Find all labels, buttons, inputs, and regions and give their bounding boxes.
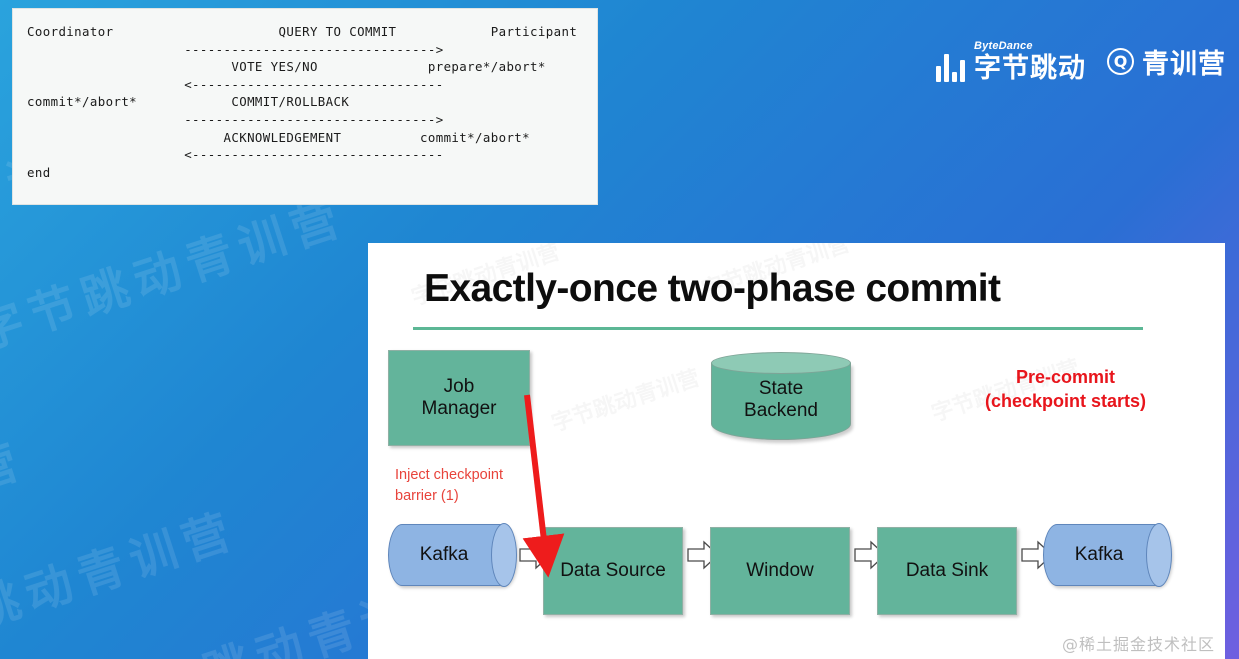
kafka-sink-label: Kafka: [1043, 524, 1171, 586]
window-label: Window: [746, 560, 814, 582]
job-manager-label-line1: Job: [444, 376, 475, 397]
presentation-slide: 字节跳动青训营 字节跳动青训营 字节跳动青训营 字节跳动青训营 Exactly-…: [368, 243, 1225, 659]
annotation-inject-checkpoint-barrier: Inject checkpoint barrier (1): [395, 465, 503, 506]
pre-commit-line1: Pre-commit: [985, 366, 1146, 390]
two-phase-commit-ascii-panel: Coordinator QUERY TO COMMIT Participant …: [12, 8, 598, 205]
state-backend-label-line2: Backend: [744, 400, 818, 422]
slide-screenshot: 字节跳动青训营 字节跳动青训营 字节跳动青训营 字节跳动青训营 字节跳动青训营 …: [0, 0, 1239, 659]
q-circle-icon: Q: [1107, 48, 1134, 75]
inject-barrier-line2: barrier (1): [395, 486, 503, 507]
ascii-sequence-text: Coordinator QUERY TO COMMIT Participant …: [13, 9, 597, 181]
node-kafka-source[interactable]: Kafka: [388, 524, 516, 586]
inject-barrier-line1: Inject checkpoint: [395, 465, 503, 486]
title-underline-rule: [413, 327, 1143, 330]
site-watermark: @稀土掘金技术社区: [1062, 631, 1215, 655]
page-title: Exactly-once two-phase commit: [424, 267, 1000, 311]
data-sink-label: Data Sink: [906, 560, 988, 582]
bytedance-cn-label: 字节跳动: [974, 55, 1086, 82]
node-data-source[interactable]: Data Source: [543, 527, 683, 615]
bytedance-en-label: ByteDance: [974, 41, 1086, 52]
qingxunying-logo: Q 青训营: [1107, 42, 1226, 81]
slide-watermark: 字节跳动青训营: [547, 360, 703, 438]
node-kafka-sink[interactable]: Kafka: [1043, 524, 1171, 586]
pre-commit-line2: (checkpoint starts): [985, 390, 1146, 414]
state-backend-label-line1: State: [759, 378, 803, 400]
node-window[interactable]: Window: [710, 527, 850, 615]
bytedance-logo: ByteDance 字节跳动: [936, 41, 1086, 82]
bytedance-bars-icon: [936, 54, 965, 82]
qingxunying-label: 青训营: [1142, 42, 1226, 81]
node-job-manager[interactable]: Job Manager: [388, 350, 530, 446]
job-manager-label-line2: Manager: [422, 398, 497, 419]
annotation-pre-commit: Pre-commit (checkpoint starts): [985, 366, 1146, 414]
bytedance-logo-lockup: ByteDance 字节跳动 Q 青训营: [936, 41, 1226, 82]
kafka-source-label: Kafka: [388, 524, 516, 586]
node-state-backend[interactable]: State Backend: [711, 352, 851, 440]
node-data-sink[interactable]: Data Sink: [877, 527, 1017, 615]
data-source-label: Data Source: [560, 560, 666, 582]
